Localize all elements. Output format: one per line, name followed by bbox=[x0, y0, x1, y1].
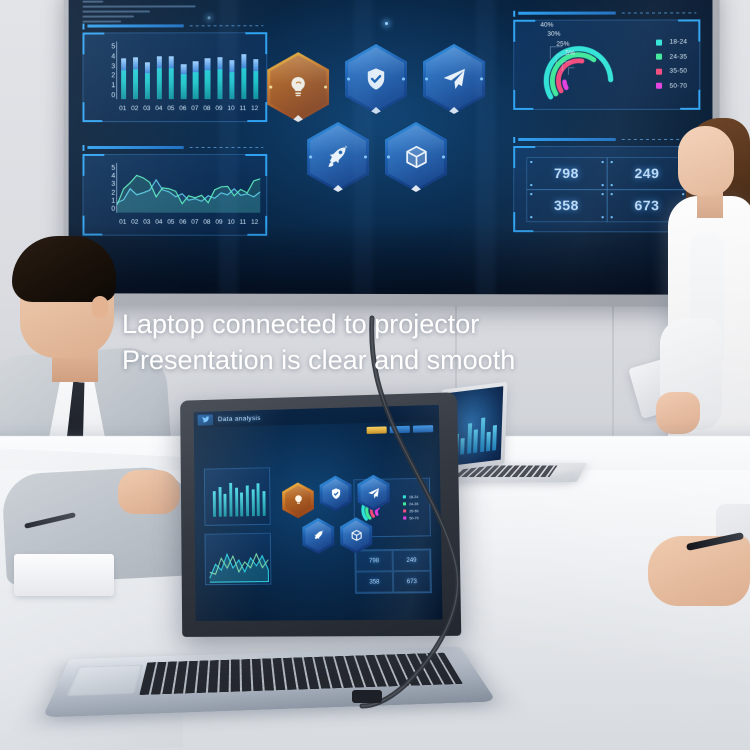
legend-item: 18-24 bbox=[403, 495, 418, 499]
x-tick: 11 bbox=[239, 219, 246, 229]
bar bbox=[121, 43, 126, 99]
projector-screen: 5 4 3 2 1 0 010203040506070809101112 bbox=[69, 0, 713, 295]
panel-box: 5 4 3 2 1 0 010203040506070809101112 bbox=[82, 154, 267, 236]
paper-plane-icon bbox=[366, 486, 380, 499]
panel-box: 5 4 3 2 1 0 010203040506070809101112 bbox=[82, 32, 267, 122]
x-tick: 12 bbox=[251, 219, 258, 229]
kpi-cell: 798 bbox=[526, 157, 607, 190]
legend-item: 35-50 bbox=[656, 68, 687, 75]
legend-label: 18-24 bbox=[409, 495, 418, 499]
laptop-line-panel bbox=[204, 533, 271, 585]
legend-item: 24-35 bbox=[403, 502, 418, 506]
cube-icon bbox=[402, 143, 429, 171]
app-title: Data analysis bbox=[218, 415, 261, 423]
bar bbox=[133, 43, 138, 99]
donut-legend: 18-24 24-35 35-50 50-70 bbox=[656, 39, 687, 97]
bar-chart-panel: 5 4 3 2 1 0 010203040506070809101112 bbox=[82, 32, 267, 122]
foreground-laptop: Data analysis bbox=[176, 394, 460, 639]
caption-line-1: Laptop connected to projector bbox=[122, 306, 682, 342]
x-tick: 02 bbox=[131, 105, 138, 115]
y-tick: 0 bbox=[111, 206, 115, 213]
y-tick: 4 bbox=[111, 53, 115, 60]
legend-item: 50-70 bbox=[403, 516, 418, 520]
x-tick: 05 bbox=[167, 105, 174, 115]
donut-label: 25% bbox=[556, 40, 574, 49]
bar bbox=[181, 43, 186, 99]
legend-label: 18-24 bbox=[669, 39, 687, 46]
x-tick: 07 bbox=[191, 219, 198, 229]
laptop-bar-panel bbox=[204, 467, 271, 526]
donut-percent-labels: 40% 30% 25% 5% bbox=[540, 21, 575, 59]
legend-swatch bbox=[656, 83, 662, 89]
x-tick: 02 bbox=[131, 219, 138, 229]
hex-shield[interactable] bbox=[319, 475, 351, 512]
line-chart-x-axis: 010203040506070809101112 bbox=[119, 219, 258, 229]
hex-rocket[interactable] bbox=[302, 518, 334, 555]
x-tick: 01 bbox=[119, 219, 126, 229]
panel-tab bbox=[513, 7, 700, 15]
shield-check-icon bbox=[329, 487, 342, 501]
rocket-icon bbox=[325, 143, 351, 171]
hex-send[interactable] bbox=[423, 44, 485, 114]
bar bbox=[145, 43, 150, 99]
y-tick: 4 bbox=[111, 173, 115, 180]
hex-cube[interactable] bbox=[385, 122, 447, 192]
panel-tab bbox=[82, 20, 267, 28]
x-tick: 03 bbox=[143, 219, 150, 229]
legend-label: 50-70 bbox=[409, 516, 418, 520]
x-tick: 01 bbox=[119, 105, 126, 115]
legend-item: 50-70 bbox=[656, 82, 687, 89]
line-series bbox=[117, 163, 260, 213]
ear bbox=[92, 296, 108, 318]
donut-arc bbox=[558, 61, 582, 91]
hex-lightbulb[interactable] bbox=[282, 482, 314, 518]
laptop-toolbar-buttons bbox=[367, 425, 434, 434]
kpi-value: 673 bbox=[634, 197, 659, 213]
rocket-icon bbox=[312, 529, 325, 543]
kpi-cell: 249 bbox=[606, 157, 688, 190]
line-chart-y-axis: 5 4 3 2 1 0 bbox=[99, 165, 115, 213]
y-tick: 3 bbox=[111, 181, 115, 188]
x-tick: 10 bbox=[227, 105, 234, 115]
bar-series bbox=[121, 43, 258, 99]
x-tick: 09 bbox=[215, 105, 222, 115]
kpi-grid: 798 249 358 673 bbox=[526, 157, 687, 221]
bar bbox=[253, 43, 258, 99]
kpi-value: 358 bbox=[554, 197, 579, 213]
bar-chart-y-axis: 5 4 3 2 1 0 bbox=[99, 43, 115, 99]
trackpad[interactable] bbox=[65, 665, 142, 696]
x-tick: 04 bbox=[155, 105, 162, 115]
panel-tab bbox=[513, 134, 700, 142]
man-hand bbox=[118, 470, 180, 514]
legend-swatch bbox=[656, 68, 662, 74]
donut-label: 5% bbox=[565, 49, 574, 58]
y-tick: 5 bbox=[111, 165, 115, 172]
x-tick: 10 bbox=[227, 219, 234, 229]
laptop-lid: Data analysis bbox=[180, 392, 461, 637]
donut-label: 40% bbox=[540, 21, 575, 31]
x-tick: 11 bbox=[239, 105, 246, 115]
hexagon-cluster bbox=[267, 44, 507, 214]
legend-item: 18-24 bbox=[656, 39, 687, 46]
toolbar-button-secondary[interactable] bbox=[390, 426, 410, 434]
kpi-value: 798 bbox=[554, 165, 579, 181]
donut-arc bbox=[564, 82, 566, 88]
legend-swatch bbox=[656, 54, 662, 60]
projector-screen-frame: 5 4 3 2 1 0 010203040506070809101112 bbox=[64, 0, 720, 307]
app-titlebar: Data analysis bbox=[194, 405, 439, 428]
laptop-screen: Data analysis bbox=[194, 405, 443, 621]
bar bbox=[157, 43, 162, 99]
y-tick: 5 bbox=[111, 43, 115, 50]
bar bbox=[217, 43, 222, 99]
laptop-hexagon-cluster bbox=[282, 475, 383, 583]
legend-item: 35-50 bbox=[403, 509, 418, 513]
panel-tab bbox=[82, 142, 267, 150]
hex-lightbulb[interactable] bbox=[267, 52, 329, 122]
hex-shield[interactable] bbox=[345, 44, 407, 114]
y-tick: 2 bbox=[111, 73, 115, 80]
bar bbox=[241, 43, 246, 99]
legend-item: 24-35 bbox=[656, 53, 687, 60]
x-tick: 06 bbox=[179, 105, 186, 115]
kpi-value: 249 bbox=[406, 557, 416, 563]
x-tick: 04 bbox=[155, 219, 162, 229]
x-tick: 12 bbox=[251, 105, 258, 115]
lightbulb-icon bbox=[285, 73, 311, 101]
legend-label: 24-35 bbox=[409, 502, 418, 506]
bar bbox=[205, 43, 210, 99]
caption-line-2: Presentation is clear and smooth bbox=[122, 342, 682, 378]
bird-logo-icon bbox=[200, 415, 211, 423]
paper-plane-icon bbox=[440, 66, 468, 92]
shield-check-icon bbox=[363, 65, 389, 93]
kpi-cell: 249 bbox=[393, 550, 431, 572]
panel-box: 40% 30% 25% 5% 18-24 24-35 bbox=[513, 19, 700, 110]
hex-rocket[interactable] bbox=[307, 122, 369, 192]
x-tick: 08 bbox=[203, 219, 210, 229]
y-tick: 2 bbox=[111, 189, 115, 196]
bar bbox=[193, 43, 198, 99]
toolbar-button-tertiary[interactable] bbox=[413, 425, 433, 433]
donut-label: 30% bbox=[547, 30, 575, 39]
kpi-cell: 358 bbox=[526, 189, 607, 222]
legend-label: 35-50 bbox=[409, 509, 418, 513]
bar bbox=[169, 43, 174, 99]
laptop-legend: 18-24 24-35 35-50 50-70 bbox=[403, 495, 419, 521]
keyboard[interactable] bbox=[139, 653, 463, 695]
x-tick: 06 bbox=[179, 219, 186, 229]
kpi-value: 673 bbox=[407, 579, 417, 585]
lightbulb-icon bbox=[291, 493, 304, 507]
kpi-cell: 673 bbox=[393, 571, 431, 593]
x-tick: 03 bbox=[143, 105, 150, 115]
app-logo-icon bbox=[198, 414, 214, 425]
hex-cube[interactable] bbox=[340, 517, 373, 554]
x-tick: 05 bbox=[167, 219, 174, 229]
trackpad[interactable] bbox=[550, 468, 578, 477]
y-tick: 1 bbox=[111, 198, 115, 205]
hair bbox=[12, 236, 116, 302]
toolbar-button-primary[interactable] bbox=[367, 426, 387, 434]
legend-swatch bbox=[656, 39, 662, 45]
y-tick: 0 bbox=[111, 92, 115, 99]
legend-label: 50-70 bbox=[669, 82, 687, 89]
line-chart-panel: 5 4 3 2 1 0 010203040506070809101112 bbox=[82, 154, 267, 236]
y-tick: 1 bbox=[111, 82, 115, 89]
screenshot-root: 5 4 3 2 1 0 010203040506070809101112 bbox=[0, 0, 750, 750]
y-axis-line bbox=[116, 41, 117, 99]
hair-front bbox=[682, 114, 744, 168]
cube-icon bbox=[350, 528, 363, 542]
bar bbox=[229, 43, 234, 99]
donut-chart-panel: 40% 30% 25% 5% 18-24 24-35 bbox=[513, 19, 700, 110]
caption-overlay: Laptop connected to projector Presentati… bbox=[122, 306, 682, 379]
hand bbox=[656, 392, 700, 434]
legend-label: 24-35 bbox=[669, 53, 687, 60]
kpi-value: 249 bbox=[634, 165, 659, 181]
legend-label: 35-50 bbox=[669, 68, 687, 75]
x-tick: 09 bbox=[215, 219, 222, 229]
bar-chart-x-axis: 010203040506070809101112 bbox=[119, 105, 258, 115]
notepad bbox=[14, 554, 114, 596]
x-tick: 07 bbox=[191, 105, 198, 115]
laptop-line-series bbox=[205, 534, 272, 586]
laptop-bar-series bbox=[213, 474, 266, 517]
y-tick: 3 bbox=[111, 63, 115, 70]
x-tick: 08 bbox=[203, 105, 210, 115]
